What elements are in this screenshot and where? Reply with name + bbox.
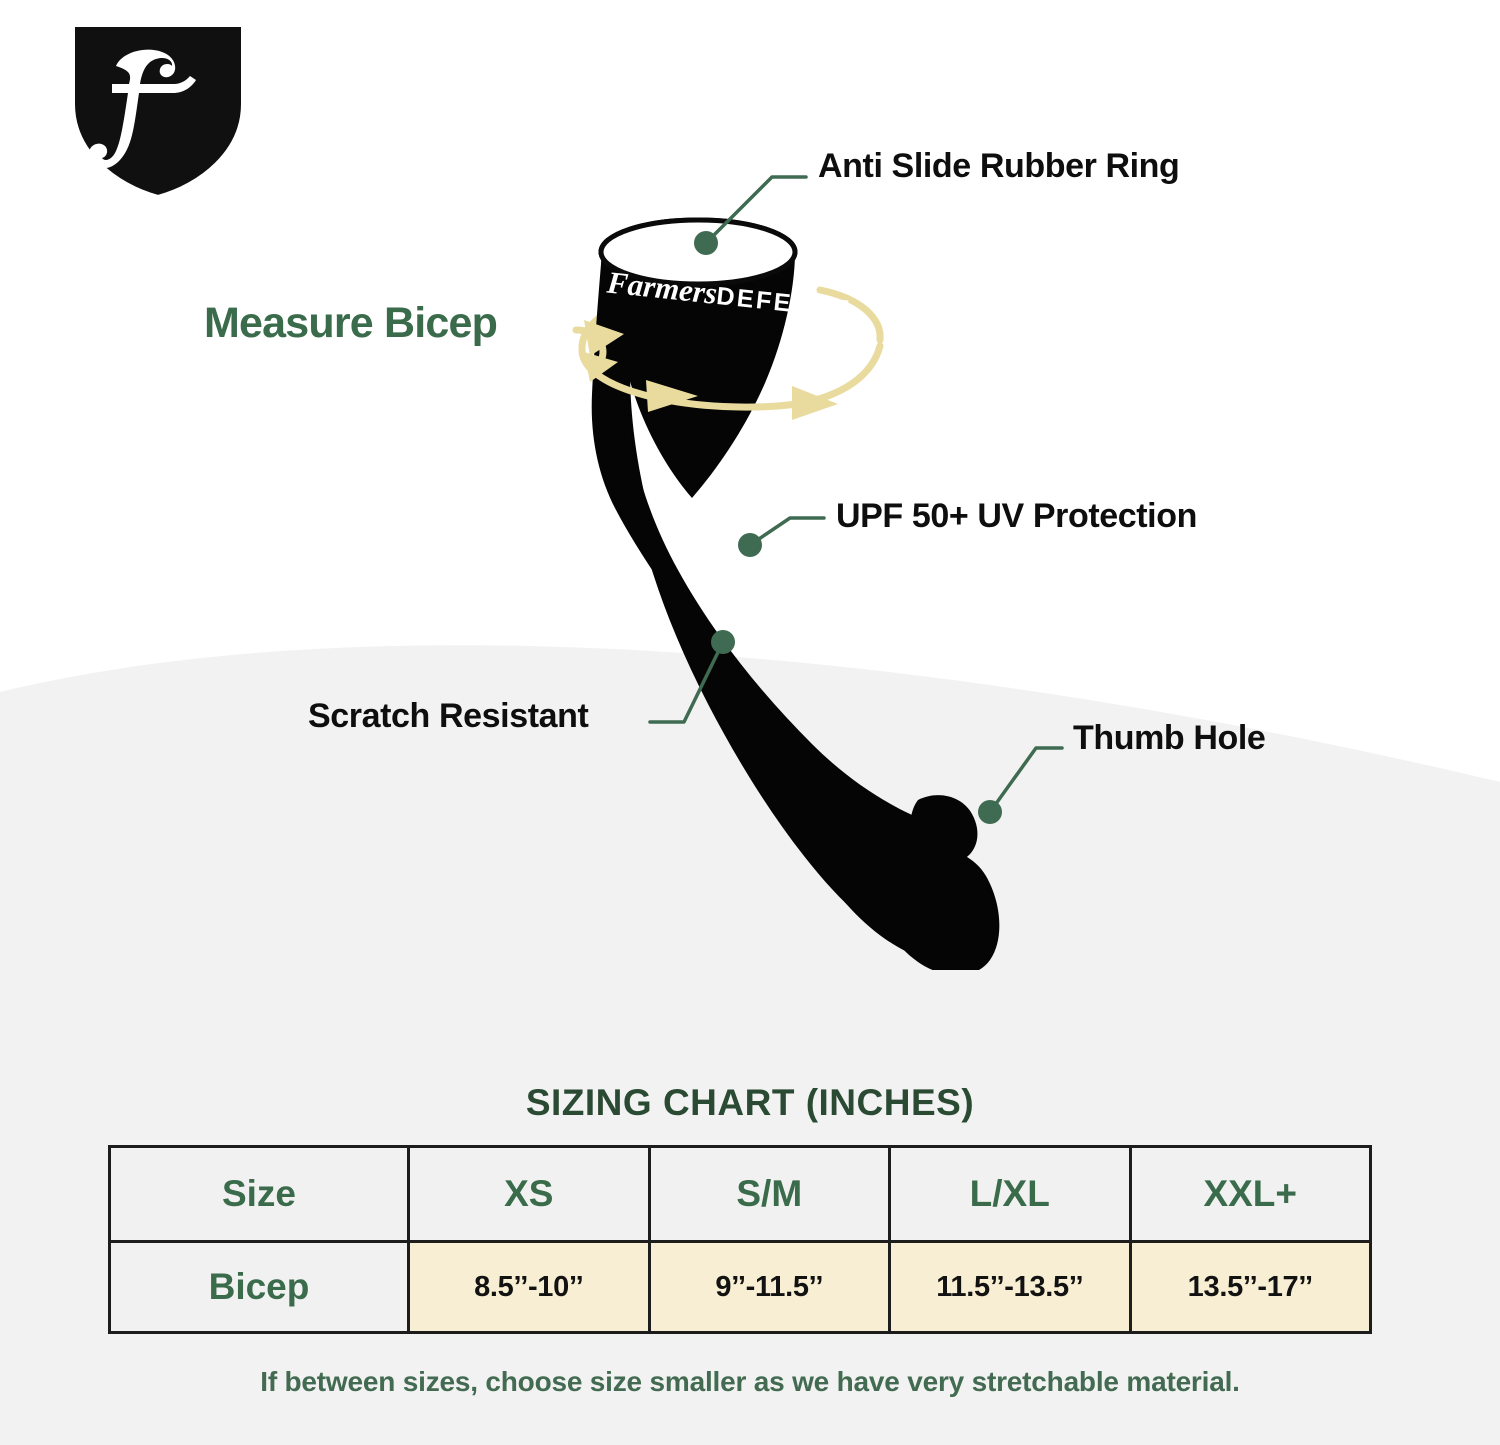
anchor-dot-thumb — [978, 800, 1002, 824]
header-cell-xxl: XXL+ — [1130, 1147, 1371, 1242]
header-cell-lxl: L/XL — [890, 1147, 1131, 1242]
cell-bicep-lxl: 11.5’’-13.5’’ — [890, 1242, 1131, 1333]
sleeve-silhouette — [592, 220, 1000, 970]
table-header-row: Size XS S/M L/XL XXL+ — [110, 1147, 1371, 1242]
callout-measure-bicep: Measure Bicep — [204, 299, 497, 348]
anchor-dot-scratch — [711, 630, 735, 654]
sizing-chart-title: SIZING CHART (INCHES) — [0, 1082, 1500, 1124]
cell-bicep-sm: 9’’-11.5’’ — [649, 1242, 890, 1333]
cell-bicep-xxl: 13.5’’-17’’ — [1130, 1242, 1371, 1333]
sizing-chart-note: If between sizes, choose size smaller as… — [0, 1366, 1500, 1398]
shield-logo-icon — [60, 18, 256, 204]
header-cell-size: Size — [110, 1147, 409, 1242]
sizing-chart-table: Size XS S/M L/XL XXL+ Bicep 8.5’’-10’’ 9… — [108, 1145, 1372, 1334]
callout-upf-50-uv-protection: UPF 50+ UV Protection — [836, 497, 1197, 536]
cell-bicep-xs: 8.5’’-10’’ — [409, 1242, 650, 1333]
header-cell-xs: XS — [409, 1147, 650, 1242]
header-cell-sm: S/M — [649, 1147, 890, 1242]
anchor-dot-upf — [738, 533, 762, 557]
callout-scratch-resistant: Scratch Resistant — [308, 697, 588, 736]
arm-sleeve-illustration: Farmers DEFENSE — [520, 180, 1080, 970]
sizing-infographic-page: Farmers DEFENSE Anti Slide Rubber — [0, 0, 1500, 1445]
row-label-bicep: Bicep — [110, 1242, 409, 1333]
callout-anti-slide-rubber-ring: Anti Slide Rubber Ring — [818, 147, 1179, 186]
anchor-dot-anti-slide — [694, 231, 718, 255]
callout-thumb-hole: Thumb Hole — [1073, 719, 1265, 758]
table-row: Bicep 8.5’’-10’’ 9’’-11.5’’ 11.5’’-13.5’… — [110, 1242, 1371, 1333]
